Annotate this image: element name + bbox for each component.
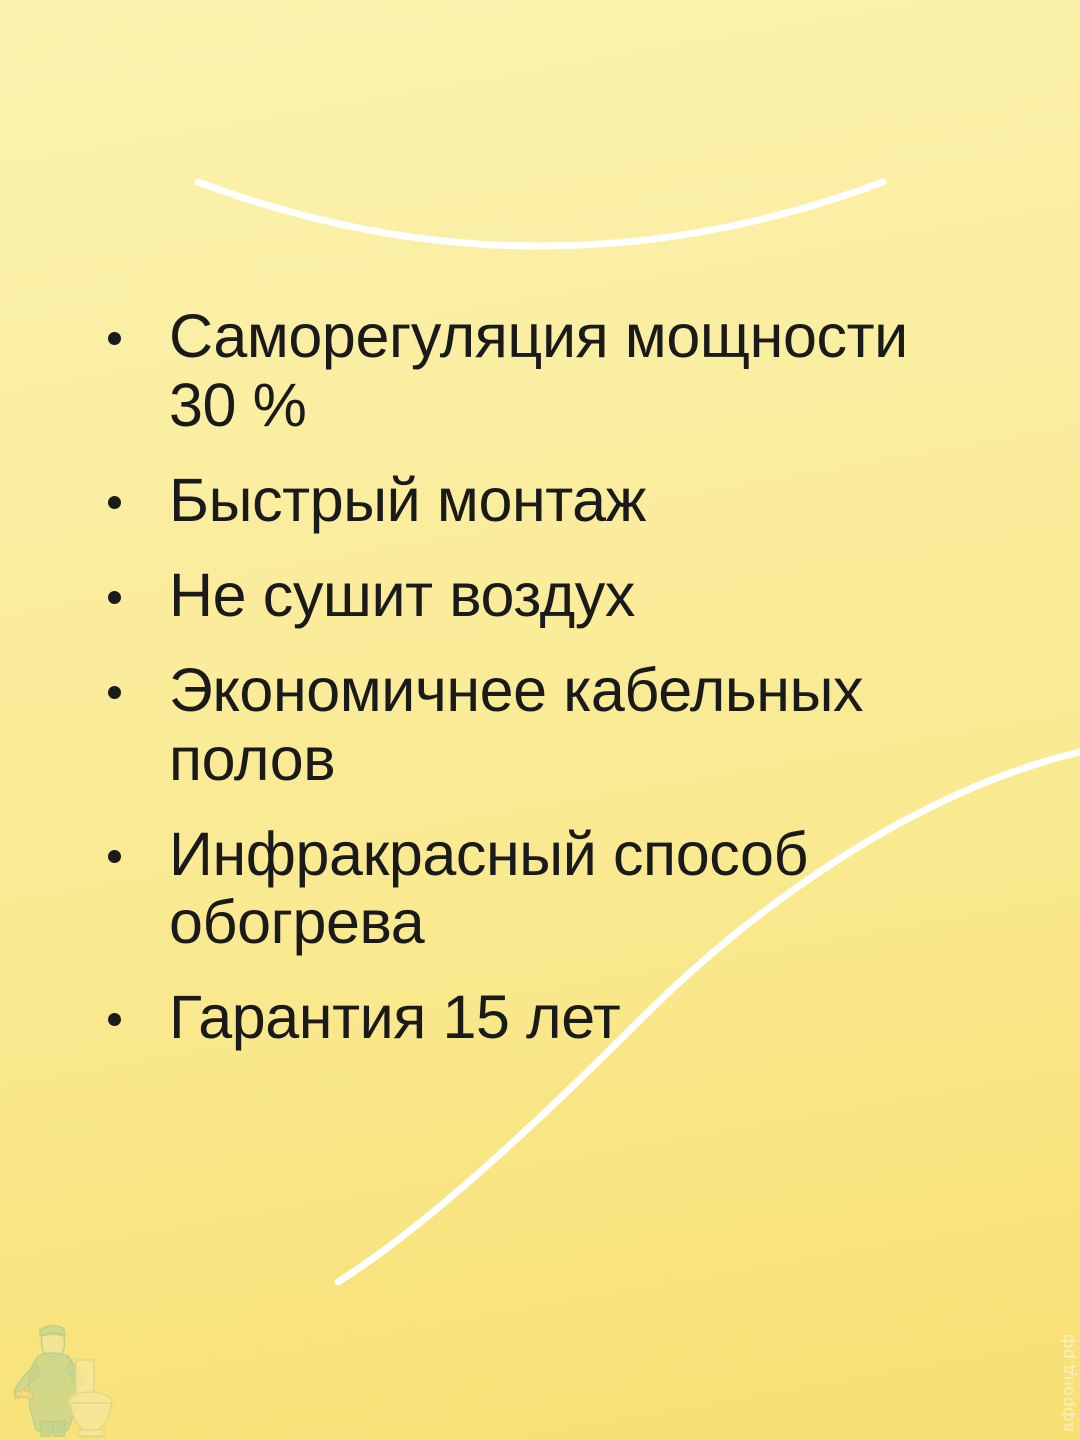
list-item: Экономичнее кабельных полов [108,656,968,794]
bullet-text: Быстрый монтаж [169,466,968,535]
list-item: Быстрый монтаж [108,466,968,535]
bullet-dot-icon [108,496,121,509]
bullet-dot-icon [108,332,121,345]
bullet-text: Саморегуляция мощности 30 % [169,302,968,440]
feature-bullet-list: Саморегуляция мощности 30 % Быстрый монт… [108,302,968,1078]
bullet-text: Экономичнее кабельных полов [169,656,968,794]
list-item: Инфракрасный способ обогрева [108,820,968,958]
slide-canvas: Саморегуляция мощности 30 % Быстрый монт… [0,0,1080,1440]
list-item: Саморегуляция мощности 30 % [108,302,968,440]
site-watermark-text: афронд.рф [1058,1333,1078,1432]
plumber-toilet-logo-icon [12,1312,124,1438]
bullet-dot-icon [108,591,121,604]
bullet-dot-icon [108,850,121,863]
list-item: Не сушит воздух [108,561,968,630]
bullet-text: Не сушит воздух [169,561,968,630]
bullet-dot-icon [108,686,121,699]
list-item: Гарантия 15 лет [108,983,968,1052]
top-arc-curve [198,182,883,246]
bullet-dot-icon [108,1013,121,1026]
bullet-text: Гарантия 15 лет [169,983,968,1052]
bullet-text: Инфракрасный способ обогрева [169,820,968,958]
